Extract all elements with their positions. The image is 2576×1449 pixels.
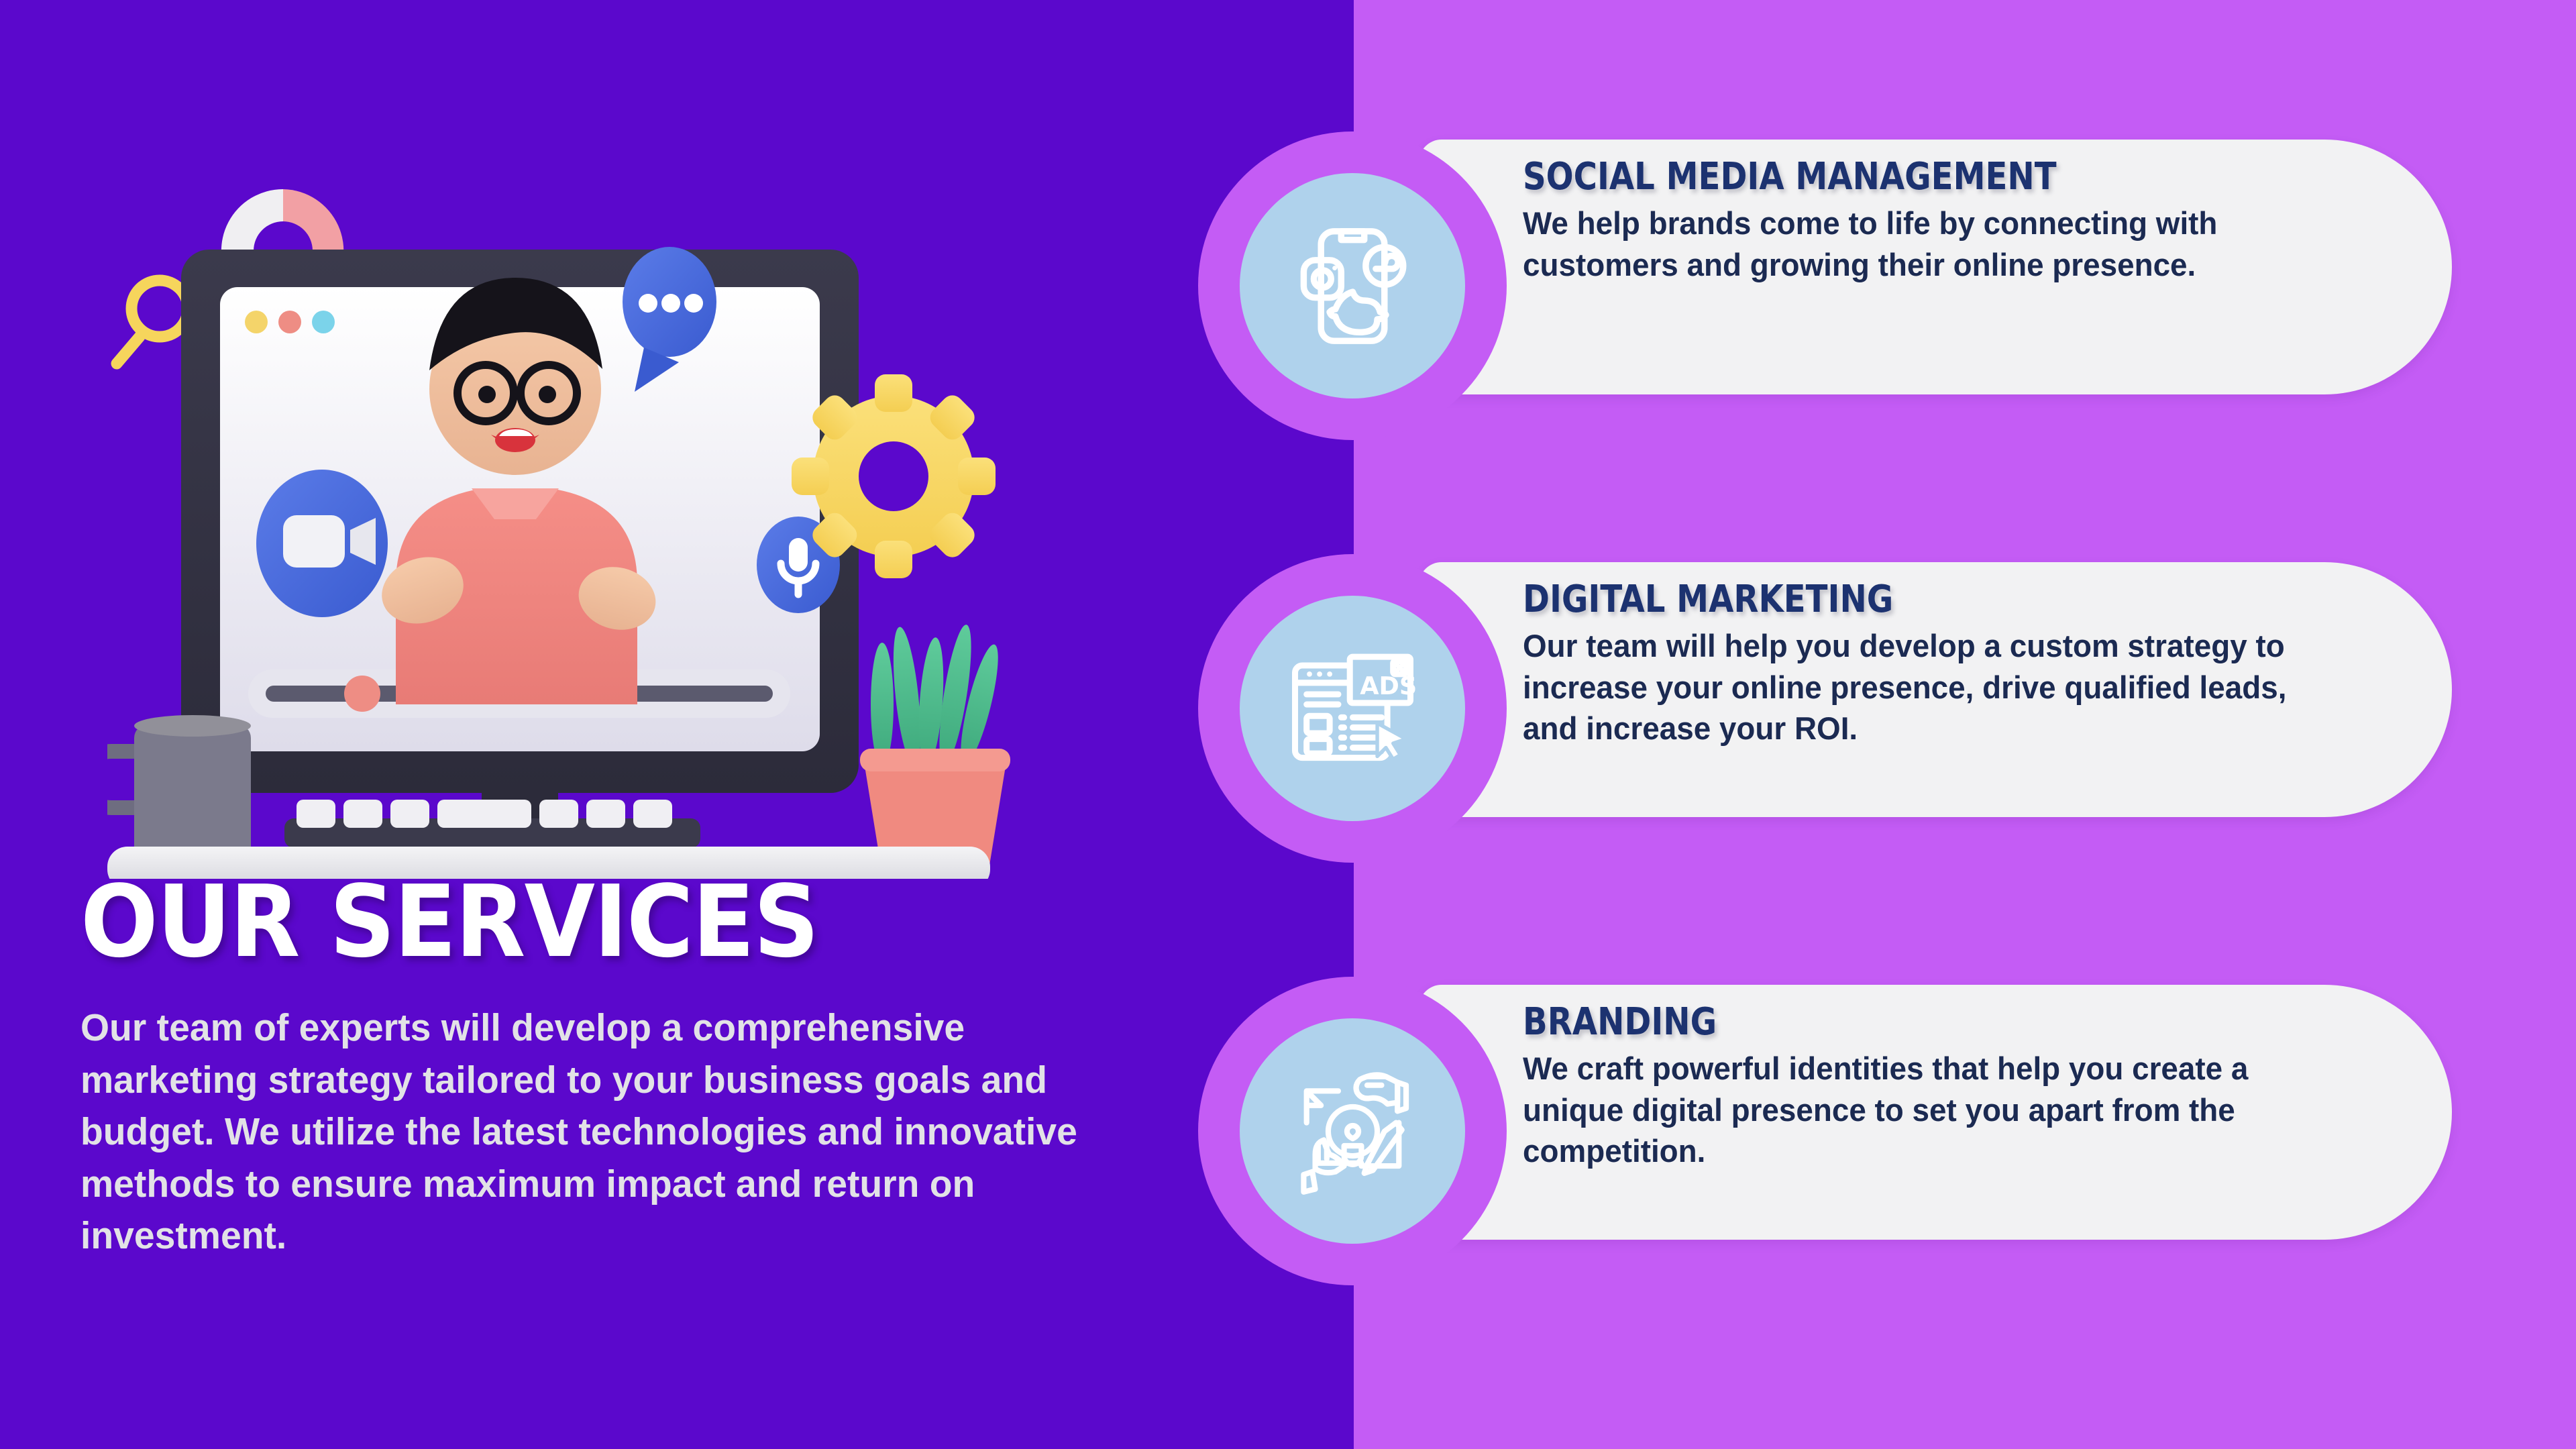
service-description: Our team will help you develop a custom … bbox=[1523, 625, 2318, 748]
branding-lightbulb-hands-icon bbox=[1281, 1059, 1425, 1203]
service-title: DIGITAL MARKETING bbox=[1523, 580, 2224, 620]
services-list: SOCIAL MEDIA MANAGEMENT We help brands c… bbox=[0, 0, 2576, 1449]
service-description: We help brands come to life by connectin… bbox=[1523, 203, 2318, 284]
service-title: BRANDING bbox=[1523, 1002, 2224, 1042]
service-badge[interactable] bbox=[1198, 977, 1507, 1285]
badge-inner-circle bbox=[1240, 1018, 1465, 1244]
service-card: BRANDING We craft powerful identities th… bbox=[1419, 985, 2452, 1240]
service-title: SOCIAL MEDIA MANAGEMENT bbox=[1523, 157, 2224, 197]
badge-inner-circle bbox=[1240, 173, 1465, 398]
svg-text:ADS: ADS bbox=[1360, 672, 1417, 700]
badge-inner-circle: ADS bbox=[1240, 596, 1465, 821]
social-media-phone-icon bbox=[1281, 214, 1425, 358]
ads-browser-icon: ADS bbox=[1281, 637, 1425, 781]
service-card: SOCIAL MEDIA MANAGEMENT We help brands c… bbox=[1419, 140, 2452, 394]
service-badge[interactable]: ADS bbox=[1198, 554, 1507, 863]
service-description: We craft powerful identities that help y… bbox=[1523, 1048, 2318, 1171]
service-card: DIGITAL MARKETING Our team will help you… bbox=[1419, 562, 2452, 817]
service-badge[interactable] bbox=[1198, 131, 1507, 440]
